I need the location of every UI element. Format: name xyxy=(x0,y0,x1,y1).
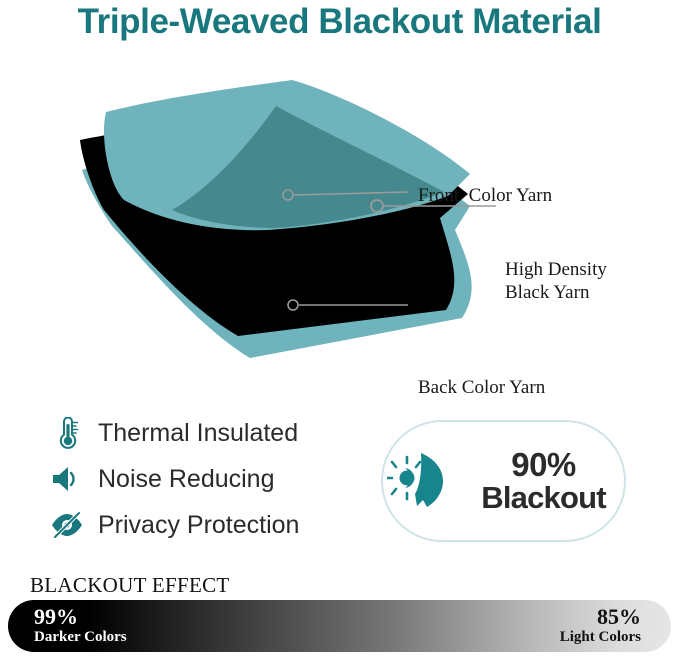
eye-slash-icon xyxy=(50,508,84,542)
feature-item-thermal-insulated: Thermal Insulated xyxy=(50,410,360,456)
feature-item-privacy-protection: Privacy Protection xyxy=(50,502,360,548)
light-colors-caption: Light Colors xyxy=(560,629,641,646)
callout-label-front-color-yarn: Front Color Yarn xyxy=(418,184,552,207)
sun-behind-curtain-icon xyxy=(383,444,457,518)
gradient-left-stat: 99% Darker Colors xyxy=(34,605,127,646)
callout-label-high-density-black-yarn: High Density Black Yarn xyxy=(505,258,607,304)
feature-list: Thermal Insulated Noise Reducing Privacy… xyxy=(50,410,360,548)
feature-label-noise-reducing: Noise Reducing xyxy=(98,465,275,494)
darker-colors-caption: Darker Colors xyxy=(34,629,127,646)
feature-label-thermal-insulated: Thermal Insulated xyxy=(98,419,298,448)
light-colors-percent: 85% xyxy=(560,605,641,629)
blackout-percent: 90% xyxy=(511,446,576,483)
feature-item-noise-reducing: Noise Reducing xyxy=(50,456,360,502)
blackout-badge: 90% Blackout xyxy=(381,420,626,542)
darker-colors-percent: 99% xyxy=(34,605,127,629)
speaker-sound-icon xyxy=(50,462,84,496)
gradient-right-stat: 85% Light Colors xyxy=(560,605,641,646)
thermometer-icon xyxy=(50,416,84,450)
feature-label-privacy-protection: Privacy Protection xyxy=(98,511,299,540)
blackout-effect-title: BLACKOUT EFFECT xyxy=(30,573,230,598)
blackout-word: Blackout xyxy=(481,480,606,515)
blackout-effect-gradient-bar: 99% Darker Colors 85% Light Colors xyxy=(8,600,671,652)
fabric-diagram: Front Color Yarn High Density Black Yarn… xyxy=(0,78,679,358)
callout-label-back-color-yarn: Back Color Yarn xyxy=(418,376,545,399)
blackout-badge-text: 90% Blackout xyxy=(463,448,624,513)
page-title: Triple-Weaved Blackout Material xyxy=(0,2,679,42)
